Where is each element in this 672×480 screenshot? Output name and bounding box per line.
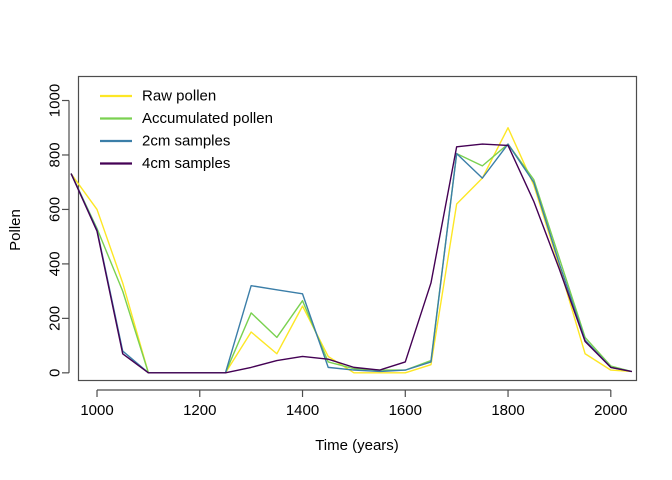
- x-axis-title: Time (years): [315, 437, 399, 454]
- y-tick-label: 600: [47, 197, 64, 222]
- x-tick-label: 1600: [389, 402, 422, 419]
- x-tick-label: 1800: [491, 402, 524, 419]
- chart-container: 100012001400160018002000 020040060080010…: [0, 0, 672, 480]
- y-tick-label: 400: [47, 251, 64, 276]
- y-tick-label: 0: [47, 369, 64, 377]
- x-tick-label: 2000: [594, 402, 627, 419]
- y-tick-label: 1000: [47, 84, 64, 117]
- legend-label-accumulated-pollen: Accumulated pollen: [142, 110, 273, 127]
- x-tick-label: 1400: [286, 402, 319, 419]
- legend-label-2cm-samples: 2cm samples: [142, 133, 230, 150]
- y-tick-label: 800: [47, 142, 64, 167]
- y-tick-label: 200: [47, 306, 64, 331]
- pollen-time-series-chart: 100012001400160018002000 020040060080010…: [0, 0, 672, 480]
- legend-label-raw-pollen: Raw pollen: [142, 88, 216, 105]
- legend-label-4cm-samples: 4cm samples: [142, 155, 230, 172]
- x-tick-label: 1200: [183, 402, 216, 419]
- y-axis-title: Pollen: [7, 209, 24, 251]
- x-tick-label: 1000: [80, 402, 113, 419]
